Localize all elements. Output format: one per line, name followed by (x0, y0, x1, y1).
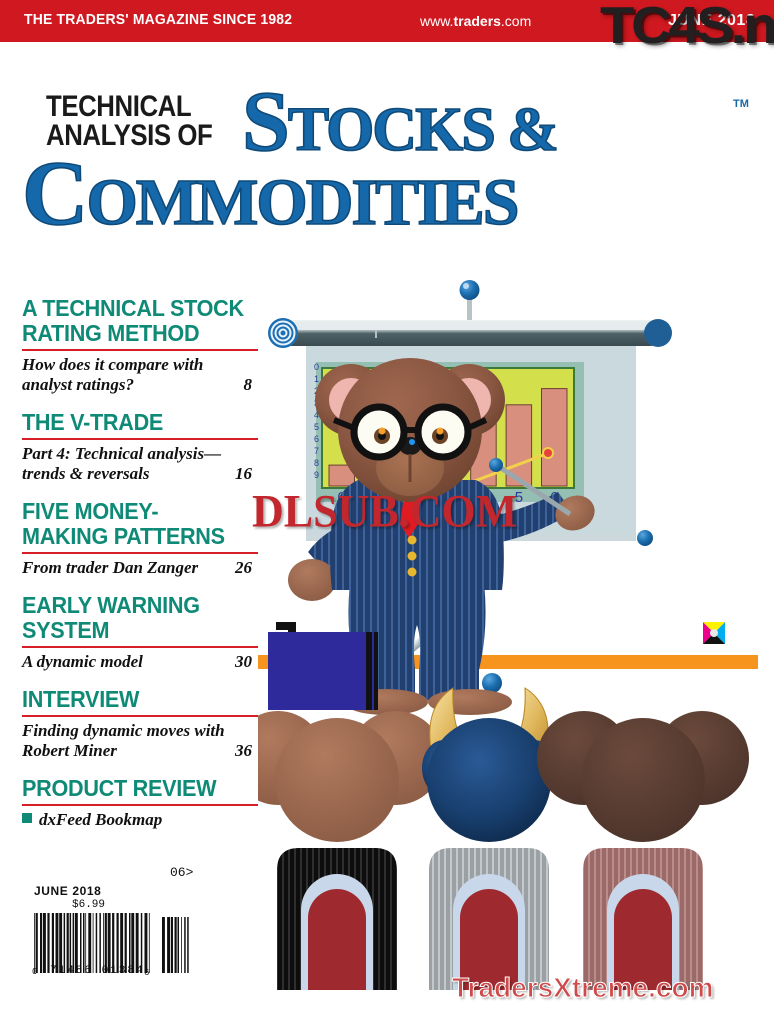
toc-entry-rule (22, 715, 258, 717)
url-suffix: .com (501, 13, 531, 29)
watermark-tradersxtreme: TradersXtreme.com (452, 972, 713, 1004)
url-brand: traders (453, 13, 500, 29)
toc-entry-subtitle: From trader Dan Zanger (22, 558, 235, 578)
barcode-upc (34, 913, 152, 973)
barcode-supplement (162, 917, 190, 973)
svg-text:0: 0 (314, 362, 319, 372)
svg-text:5: 5 (314, 422, 319, 432)
toc-entry[interactable]: FIVE MONEY-MAKING PATTERNSFrom trader Da… (0, 499, 272, 578)
toc-entry-subtitle: How does it compare with analyst ratings… (22, 355, 244, 395)
toc-entry-subtitle: dxFeed Bookmap (22, 810, 252, 830)
toc-entry-subtitle-row: Finding dynamic moves with Robert Miner3… (22, 721, 258, 761)
barcode-digit-leading: 0 (32, 967, 37, 977)
toc-entry[interactable]: EARLY WARNING SYSTEMA dynamic model30 (0, 593, 272, 672)
audience-row (258, 688, 749, 990)
toc-entry-page: 30 (235, 652, 258, 672)
toc-entry-subtitle: A dynamic model (22, 652, 235, 672)
toc-entry-heading: FIVE MONEY-MAKING PATTERNS (22, 499, 244, 549)
toc-entry-heading: INTERVIEW (22, 687, 244, 712)
audience-bear-left (258, 711, 443, 990)
website-url: www.traders.com (420, 13, 531, 29)
barcode-supplement-digits: 06> (170, 865, 193, 880)
barcode-digit-main: 71486 01384 (50, 965, 145, 977)
toc-entry[interactable]: A TECHNICAL STOCK RATING METHODHow does … (0, 296, 272, 395)
svg-text:9: 9 (314, 470, 319, 480)
masthead-commodities: COMMODITIES (22, 151, 518, 245)
toc-entry-rule (22, 804, 258, 806)
cmyk-registration-mark (701, 620, 727, 646)
url-prefix: www. (420, 13, 453, 29)
audience-bull-center (422, 688, 556, 990)
chart-bar (542, 389, 568, 486)
toc-entry-heading: EARLY WARNING SYSTEM (22, 593, 244, 643)
bullet-square-icon (22, 813, 32, 823)
toc-entry-page: 8 (244, 375, 259, 395)
toc-entry-page: 36 (235, 741, 258, 761)
watermark-tc4s: TC4S.net (600, 0, 774, 56)
svg-text:6: 6 (314, 434, 319, 444)
toc-entry-rule (22, 349, 258, 351)
masthead: TECHNICAL ANALYSIS OF STOCKS & TM COMMOD… (0, 42, 774, 262)
toc-entry[interactable]: THE V-TRADEPart 4: Technical analysis—tr… (0, 410, 272, 484)
toc-entry-rule (22, 552, 258, 554)
toc-entry-page: 16 (235, 464, 258, 484)
toc-entry-subtitle: Finding dynamic moves with Robert Miner (22, 721, 235, 761)
toc-entry-subtitle-row: How does it compare with analyst ratings… (22, 355, 258, 395)
toc-entry[interactable]: PRODUCT REVIEWdxFeed Bookmap (0, 776, 272, 830)
toc-entry-heading: A TECHNICAL STOCK RATING METHOD (22, 296, 244, 346)
toc-entry-rule (22, 438, 258, 440)
cover-price: $6.99 (72, 899, 234, 911)
magazine-tagline: THE TRADERS' MAGAZINE SINCE 1982 (24, 11, 292, 28)
barcode-digits: 0 71486 01384 6 (34, 977, 234, 991)
toc-entry-heading: THE V-TRADE (22, 410, 244, 435)
masthead-line-1: TECHNICAL (46, 92, 212, 121)
toc-entry-subtitle: Part 4: Technical analysis—trends & reve… (22, 444, 235, 484)
toc-entry-subtitle-row: A dynamic model30 (22, 652, 258, 672)
toc-entry-rule (22, 646, 258, 648)
barcode-block: JUNE 2018 $6.99 06> 0 71486 01384 6 (34, 884, 234, 991)
masthead-commodities-cap: C (22, 142, 86, 244)
toc-entry-subtitle-row: dxFeed Bookmap (22, 810, 258, 830)
masthead-commodities-body: OMMODITIES (86, 166, 517, 239)
cover-illustration: 012 345 678 9 0123456 RATING SCORE (258, 270, 774, 990)
toc-entry-heading: PRODUCT REVIEW (22, 776, 244, 801)
svg-text:7: 7 (314, 446, 319, 456)
toc-entry-page: 26 (235, 558, 258, 578)
briefcase (268, 622, 378, 710)
barcode-month: JUNE 2018 (34, 884, 234, 898)
audience-bear-right (537, 711, 749, 990)
trademark-symbol: TM (733, 98, 749, 110)
svg-text:8: 8 (314, 458, 319, 468)
toc-entry-subtitle-row: Part 4: Technical analysis—trends & reve… (22, 444, 258, 484)
toc-entry[interactable]: INTERVIEWFinding dynamic moves with Robe… (0, 687, 272, 761)
watermark-dlsub: DLSUB.COM (252, 484, 517, 538)
toc-entry-subtitle-row: From trader Dan Zanger26 (22, 558, 258, 578)
barcode-digit-trailing: 6 (144, 968, 149, 978)
svg-text:1: 1 (314, 374, 319, 384)
table-of-contents: A TECHNICAL STOCK RATING METHODHow does … (0, 296, 272, 845)
